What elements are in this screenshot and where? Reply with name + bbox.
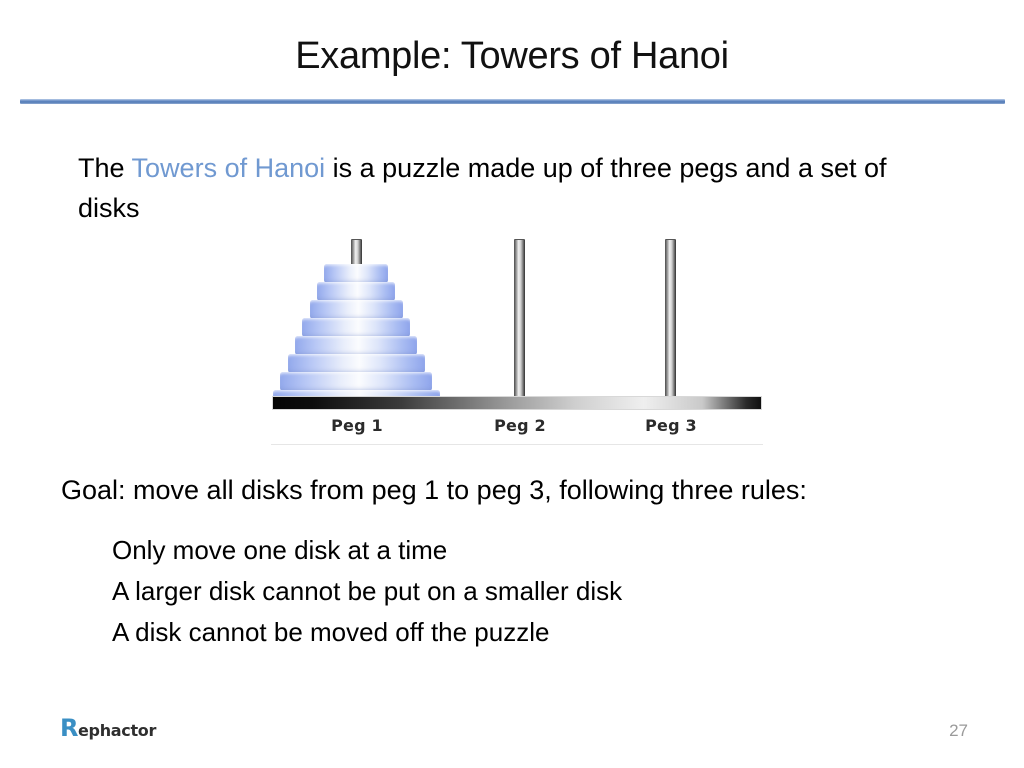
page-number: 27 [949, 721, 968, 741]
disk [310, 300, 403, 319]
disk [295, 336, 417, 355]
puzzle-base-bar [272, 396, 762, 410]
disk [288, 354, 425, 373]
logo-wordmark: ephactor [78, 721, 156, 740]
intro-prefix: The [78, 153, 132, 183]
rephactor-logo: Rephactor [60, 717, 156, 742]
slide-canvas: Example: Towers of Hanoi The Towers of H… [0, 0, 1024, 768]
peg-1-disk-stack [271, 264, 451, 409]
disk [324, 264, 388, 283]
rules-list: Only move one disk at a time A larger di… [112, 530, 912, 653]
logo-initial: R [60, 714, 78, 742]
intro-paragraph: The Towers of Hanoi is a puzzle made up … [78, 148, 948, 228]
towers-of-hanoi-figure: Peg 1 Peg 2 Peg 3 [271, 232, 763, 445]
rule-item: A disk cannot be moved off the puzzle [112, 612, 912, 653]
rule-item: Only move one disk at a time [112, 530, 912, 571]
peg-3-rod [665, 239, 676, 410]
peg-1-label: Peg 1 [297, 416, 417, 435]
peg-2-label: Peg 2 [460, 416, 580, 435]
disk [280, 372, 432, 391]
page-title: Example: Towers of Hanoi [0, 36, 1024, 78]
peg-3-label: Peg 3 [611, 416, 731, 435]
goal-statement: Goal: move all disks from peg 1 to peg 3… [61, 473, 961, 507]
title-divider [20, 99, 1005, 104]
intro-highlight: Towers of Hanoi [132, 153, 326, 183]
disk [317, 282, 395, 301]
peg-label-row: Peg 1 Peg 2 Peg 3 [271, 412, 763, 442]
peg-2-rod [514, 239, 525, 410]
rule-item: A larger disk cannot be put on a smaller… [112, 571, 912, 612]
disk [302, 318, 410, 337]
